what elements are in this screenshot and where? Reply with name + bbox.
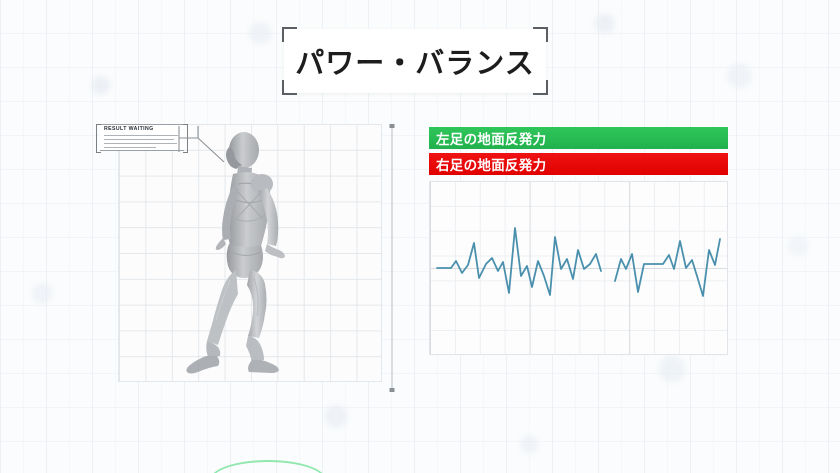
callout-detail-line: [104, 135, 178, 136]
legend-left-foot: 左足の地面反発力: [429, 127, 728, 149]
callout-detail-line: [104, 139, 174, 140]
callout-detail-line: [104, 143, 177, 144]
panel-divider: [388, 124, 396, 392]
callout-title: RESULT WAITING: [104, 126, 154, 132]
callout-bracket-left: [96, 124, 101, 153]
ground-reaction-force-waveform: [429, 181, 728, 355]
callout-detail-line: [104, 147, 156, 148]
slide-root: パワー・バランス: [0, 0, 840, 473]
chart-panel: 左足の地面反発力 右足の地面反発力: [429, 127, 728, 355]
legend-right-foot-label: 右足の地面反発力: [436, 154, 546, 174]
page-title: パワー・バランス: [284, 29, 546, 93]
waveform-segment-right: [615, 239, 720, 296]
page-title-block: パワー・バランス: [284, 29, 546, 93]
callout-leader-line: [176, 124, 246, 184]
waveform-segment-left: [437, 228, 601, 295]
figure-panel: [118, 124, 382, 382]
legend-right-foot: 右足の地面反発力: [429, 153, 728, 175]
result-waiting-callout: RESULT WAITING: [100, 124, 184, 151]
ground-contact-ellipse: [210, 460, 326, 473]
legend-left-foot-label: 左足の地面反発力: [436, 128, 546, 148]
